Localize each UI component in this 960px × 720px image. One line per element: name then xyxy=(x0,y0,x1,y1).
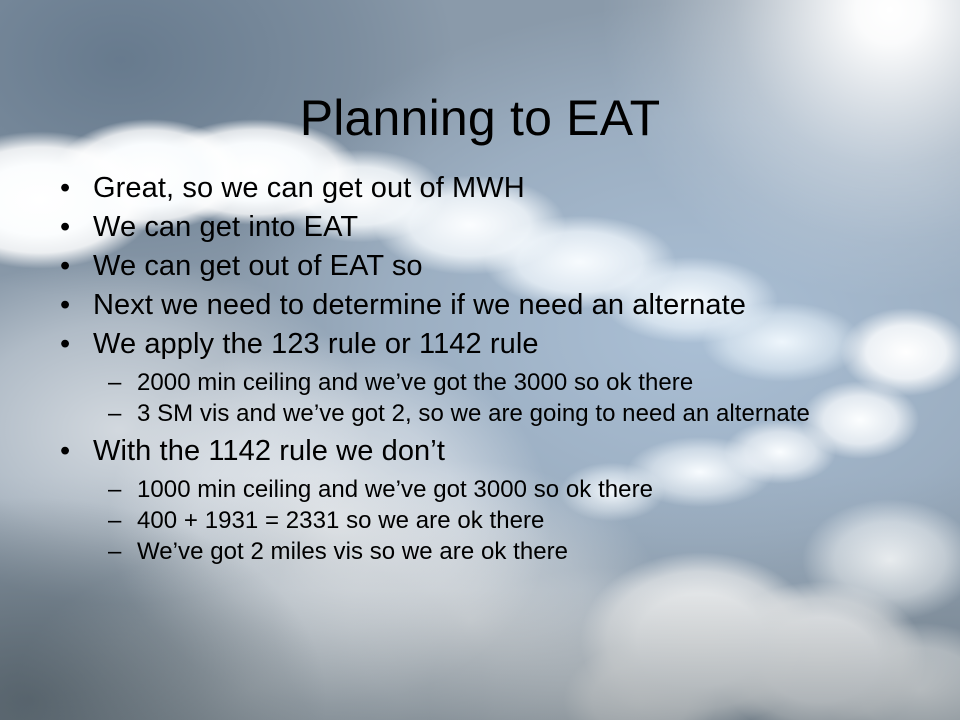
slide-body-content: • Great, so we can get out of MWH • We c… xyxy=(0,169,960,567)
bullet-item: • Next we need to determine if we need a… xyxy=(0,286,960,325)
dash-marker-icon: – xyxy=(108,398,121,429)
bullet-marker-icon: • xyxy=(60,325,70,364)
dash-marker-icon: – xyxy=(108,474,121,505)
bullet-text: Great, so we can get out of MWH xyxy=(93,172,525,204)
sub-bullet-text: We’ve got 2 miles vis so we are ok there xyxy=(137,538,568,565)
sub-bullet-text: 400 + 1931 = 2331 so we are ok there xyxy=(137,507,544,534)
dash-marker-icon: – xyxy=(108,536,121,567)
dash-marker-icon: – xyxy=(108,505,121,536)
dash-marker-icon: – xyxy=(108,367,121,398)
bullet-marker-icon: • xyxy=(60,169,70,208)
sub-bullet-item: – We’ve got 2 miles vis so we are ok the… xyxy=(0,536,960,567)
bullet-text: With the 1142 rule we don’t xyxy=(93,435,445,467)
sub-bullet-item: – 1000 min ceiling and we’ve got 3000 so… xyxy=(0,474,960,505)
bullet-text: Next we need to determine if we need an … xyxy=(93,289,746,321)
sub-bullet-item: – 2000 min ceiling and we’ve got the 300… xyxy=(0,367,960,398)
sub-bullet-text: 2000 min ceiling and we’ve got the 3000 … xyxy=(137,369,693,396)
bullet-item: • Great, so we can get out of MWH xyxy=(0,169,960,208)
sub-bullet-text: 1000 min ceiling and we’ve got 3000 so o… xyxy=(137,476,653,503)
bullet-text: We can get out of EAT so xyxy=(93,250,423,282)
bullet-marker-icon: • xyxy=(60,432,70,471)
presentation-slide: Planning to EAT • Great, so we can get o… xyxy=(0,0,960,720)
bullet-item: • We can get out of EAT so xyxy=(0,247,960,286)
sub-bullet-item: – 400 + 1931 = 2331 so we are ok there xyxy=(0,505,960,536)
bullet-item: • We apply the 123 rule or 1142 rule xyxy=(0,325,960,364)
bullet-marker-icon: • xyxy=(60,208,70,247)
bullet-item: • We can get into EAT xyxy=(0,208,960,247)
bullet-text: We apply the 123 rule or 1142 rule xyxy=(93,328,539,360)
bullet-marker-icon: • xyxy=(60,247,70,286)
bullet-item: • With the 1142 rule we don’t xyxy=(0,432,960,471)
bullet-marker-icon: • xyxy=(60,286,70,325)
sub-bullet-text: 3 SM vis and we’ve got 2, so we are goin… xyxy=(137,400,810,427)
bullet-text: We can get into EAT xyxy=(93,211,358,243)
slide-title: Planning to EAT xyxy=(0,89,960,147)
sub-bullet-item: – 3 SM vis and we’ve got 2, so we are go… xyxy=(0,398,960,429)
